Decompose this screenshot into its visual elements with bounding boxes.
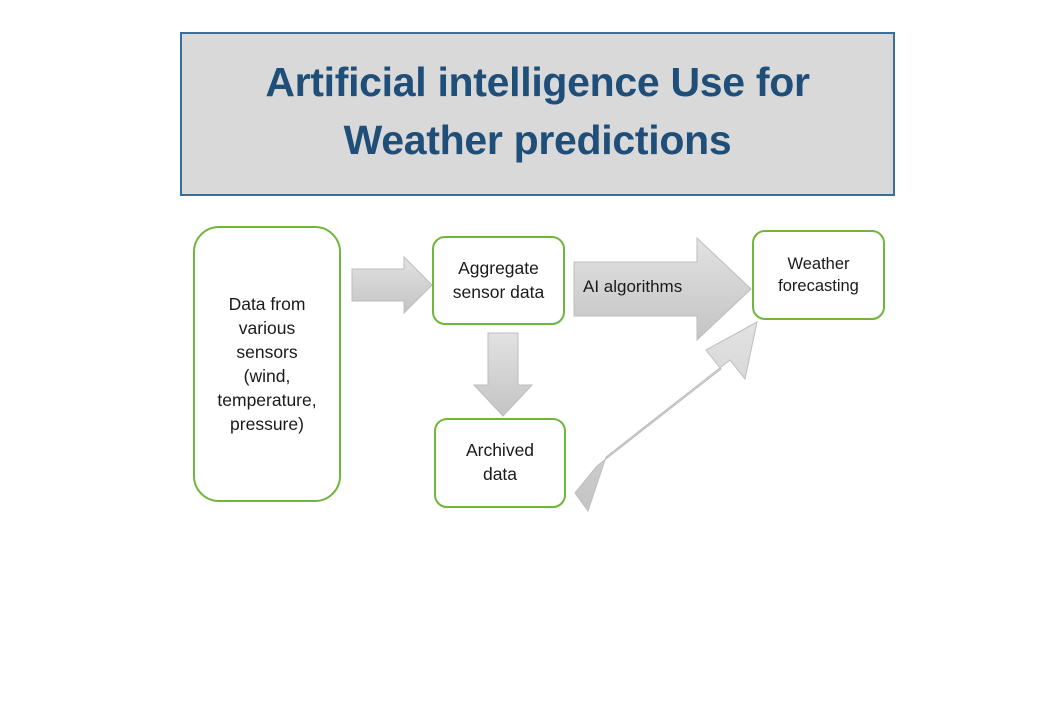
connector-aggregate-to-archived (474, 333, 532, 416)
arrow-layer (0, 0, 1040, 720)
slide-canvas: Artificial intelligence Use for Weather … (0, 0, 1040, 720)
node-label: Aggregate sensor data (453, 257, 544, 304)
node-aggregate-sensor-data[interactable]: Aggregate sensor data (432, 236, 565, 325)
node-label: Data from various sensors (wind, tempera… (217, 292, 316, 437)
node-data-from-various-sensors[interactable]: Data from various sensors (wind, tempera… (193, 226, 341, 502)
connector-sensors-to-aggregate (352, 257, 432, 313)
node-weather-forecasting[interactable]: Weather forecasting (752, 230, 885, 320)
process-flow-diagram: AI algorithms Data from various sensors … (0, 0, 1040, 720)
connector-label-ai-algorithms: AI algorithms (583, 277, 682, 297)
node-archived-data[interactable]: Archived data (434, 418, 566, 508)
node-label: Archived data (466, 439, 534, 486)
node-label: Weather forecasting (778, 253, 859, 298)
connector-archived-to-forecast (575, 322, 757, 511)
